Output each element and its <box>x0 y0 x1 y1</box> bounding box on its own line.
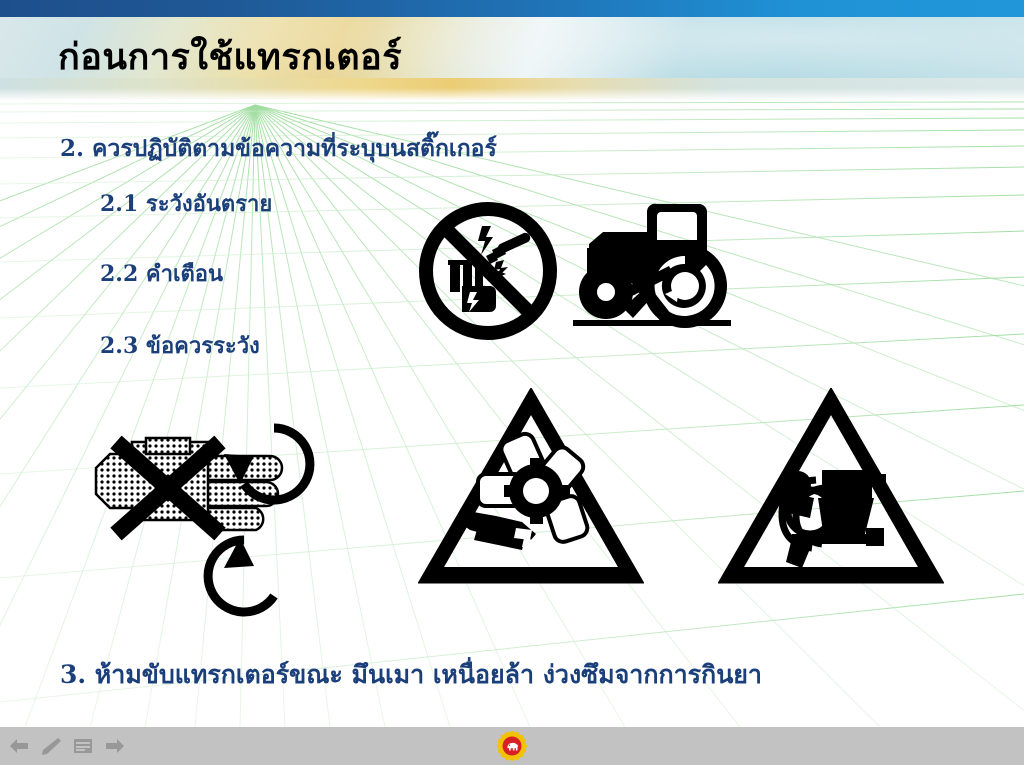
bullet-item-2-1: 2.1 ระวังอันตราย <box>100 186 272 221</box>
bullet-item-2-3: 2.3 ข้อควรระวัง <box>100 328 260 363</box>
slide-body: 2. ควรปฏิบัติตามข้อความที่ระบุบนสติ๊กเกอ… <box>0 0 1024 765</box>
page-title: ก่อนการใช้แทรกเตอร์ <box>58 28 402 85</box>
hand-caught-in-fan-warning-triangle <box>418 388 644 588</box>
tractor-runover-hazard-pictogram <box>565 196 735 331</box>
bullet-item-2-2: 2.2 คำเตือน <box>100 256 223 291</box>
presentation-slide: ก่อนการใช้แทรกเตอร์ 2. ควรปฏิบัติตามข้อค… <box>0 0 1024 765</box>
pto-shaft-entanglement-warning-triangle <box>718 388 944 588</box>
elephant-gear-logo <box>0 731 1024 761</box>
no-hands-rotating-parts-pictogram <box>88 408 334 620</box>
bullet-item-3: 3. ห้ามขับแทรกเตอร์ขณะ มึนเมา เหนื่อยล้า… <box>60 655 762 695</box>
bullet-item-2: 2. ควรปฏิบัติตามข้อความที่ระบุบนสติ๊กเกอ… <box>60 131 497 167</box>
no-starting-fluid-prohibition-sign <box>418 200 558 342</box>
